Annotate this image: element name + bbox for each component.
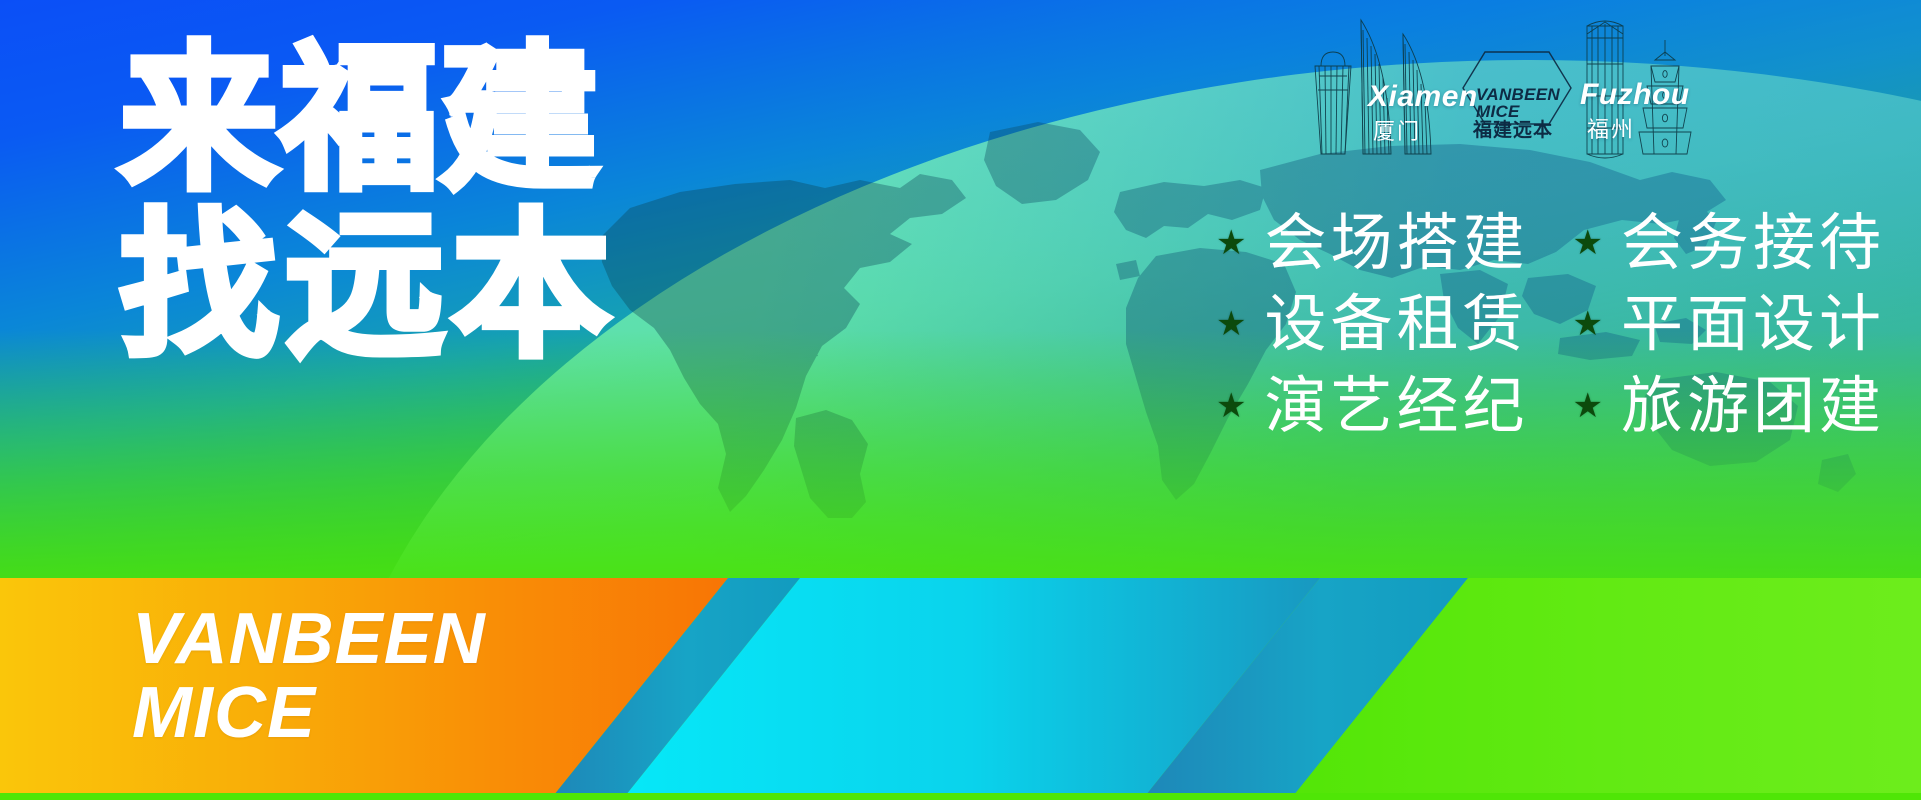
fuzhou-label-cn: 福州 [1587,112,1635,144]
service-label: 演艺经纪 [1264,371,1528,440]
service-label: 平面设计 [1621,289,1885,358]
star-icon: ★ [1573,389,1603,423]
city-badge-cluster: Xiamen 厦门 VANBEEN MICE 福建远本 Fuzhou 福州 [1305,4,1735,174]
star-icon: ★ [1216,226,1246,260]
service-list: ★ 会场搭建 ★ 会务接待 ★ 设备租赁 ★ 平面设计 ★ 演艺经纪 ★ 旅游团… [1216,208,1885,440]
xiamen-label-en: Xiamen [1368,80,1478,114]
service-item: ★ 演艺经纪 [1216,371,1529,440]
brand-logo: VANBEEN MICE [132,605,486,748]
service-label: 会务接待 [1621,208,1885,277]
headline: 来福建 找远本 [120,48,618,361]
service-item: ★ 旅游团建 [1573,371,1886,440]
xiamen-label-cn: 厦门 [1373,114,1421,146]
fuzhou-label-en: Fuzhou [1580,78,1690,112]
brand-logo-line-2: MICE [132,679,486,747]
service-label: 会场搭建 [1264,208,1528,277]
star-icon: ★ [1216,307,1246,341]
service-item: ★ 会务接待 [1573,208,1886,277]
headline-line-1: 来福建 [120,48,618,193]
brand-logo-line-1: VANBEEN [132,605,486,673]
hexagon-brand-line-2: MICE [1476,103,1520,120]
bottom-green-edge [0,793,1921,800]
service-item: ★ 设备租赁 [1216,289,1529,358]
service-item: ★ 平面设计 [1573,289,1886,358]
hexagon-brand-line-1: VANBEEN [1476,86,1560,103]
xiamen-lantern-icon [1315,52,1351,154]
headline-line-2: 找远本 [120,215,618,360]
service-item: ★ 会场搭建 [1216,208,1529,277]
service-label: 设备租赁 [1264,289,1528,358]
promo-banner: 来福建 找远本 ★ 会场搭建 ★ 会务接待 ★ 设备租赁 ★ 平面设计 ★ 演艺… [0,0,1921,800]
hexagon-brand-cn: 福建远本 [1473,121,1553,140]
star-icon: ★ [1573,307,1603,341]
star-icon: ★ [1573,226,1603,260]
service-label: 旅游团建 [1621,371,1885,440]
star-icon: ★ [1216,389,1246,423]
